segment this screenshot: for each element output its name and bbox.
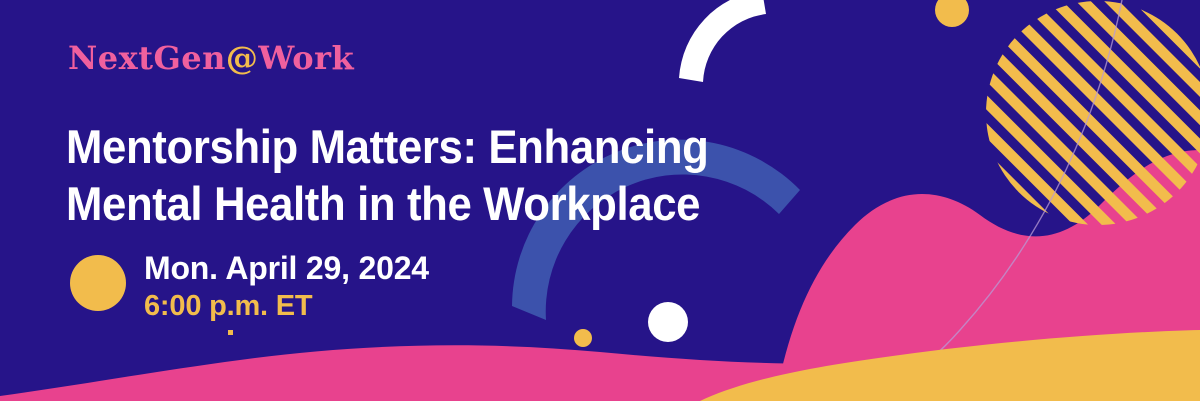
event-date: Mon. April 29, 2024 [144,248,429,288]
program-eyebrow: NextGen@Work [68,42,354,76]
event-banner: NextGen@Work Mentorship Matters: Enhanci… [0,0,1200,401]
headline-line-2: Mental Health in the Workplace [66,176,810,232]
headline-line-1: Mentorship Matters: Enhancing [66,119,810,175]
at-symbol: @ [226,39,259,77]
page-title: Mentorship Matters: Enhancing Mental Hea… [66,119,810,232]
event-datetime: Mon. April 29, 2024 6:00 p.m. ET [144,248,429,324]
event-time: 6:00 p.m. ET [144,288,429,324]
eyebrow-text-after: Work [258,39,354,77]
eyebrow-text-before: NextGen [68,39,226,77]
banner-content: NextGen@Work Mentorship Matters: Enhanci… [0,0,1200,401]
